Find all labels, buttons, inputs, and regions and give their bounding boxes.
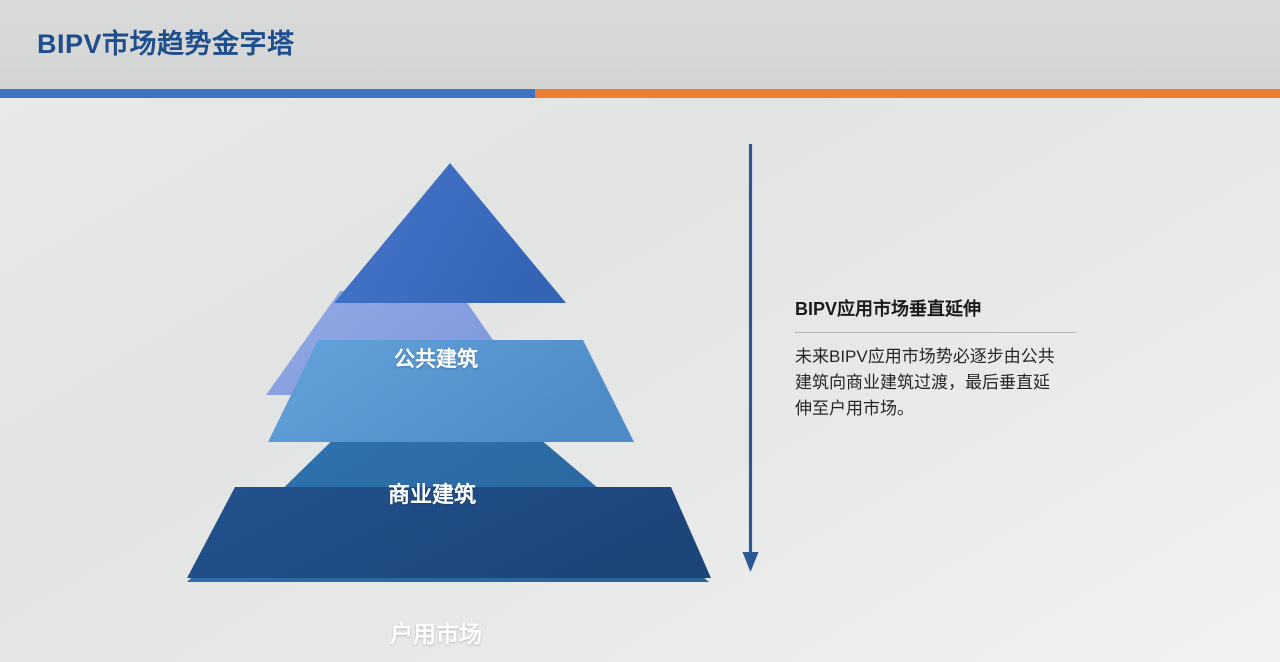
- downward-trend-arrow: [736, 138, 766, 580]
- slide-canvas: BIPV市场趋势金字塔: [0, 0, 1280, 662]
- header-accent-bar: [0, 89, 1280, 98]
- accent-bar-blue-segment: [0, 89, 535, 98]
- accent-bar-orange-segment: [535, 89, 1280, 98]
- pyramid-diagram: 公共建筑 商业建筑 户用市场: [0, 98, 760, 662]
- panel-body-text: 未来BIPV应用市场势必逐步由公共建筑向商业建筑过渡，最后垂直延伸至户用市场。: [795, 344, 1063, 422]
- pyramid-tier-top: [334, 163, 566, 303]
- page-title: BIPV市场趋势金字塔: [37, 26, 295, 62]
- pyramid-svg: [0, 98, 760, 662]
- description-panel: BIPV应用市场垂直延伸 未来BIPV应用市场势必逐步由公共建筑向商业建筑过渡，…: [795, 296, 1095, 422]
- panel-divider: [795, 332, 1076, 333]
- pyramid-tier-middle: [268, 340, 634, 442]
- panel-heading: BIPV应用市场垂直延伸: [795, 296, 1095, 322]
- arrow-icon: [736, 138, 766, 580]
- pyramid-tier-bottom: [187, 487, 711, 578]
